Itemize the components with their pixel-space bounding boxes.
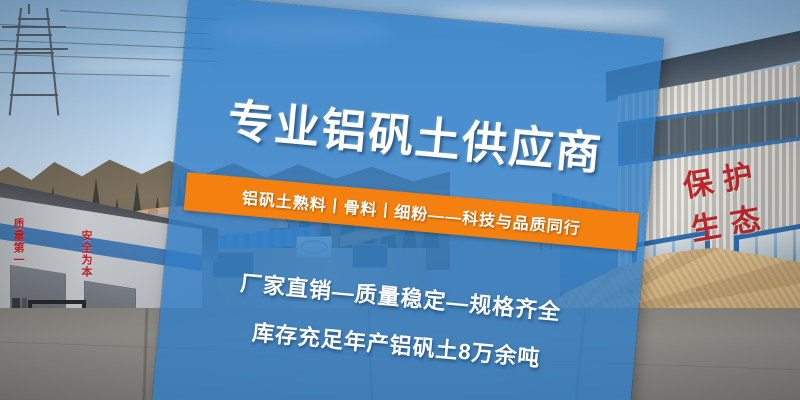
right-building-sign-text: 保护生态 [679,143,800,249]
accent-strip-text: 铝矾土熟料丨骨料丨细粉——科技与品质同行 [241,184,582,239]
transmission-tower-icon [6,8,62,116]
overlay-panel-wrapper: 专业铝矾土供应商 铝矾土熟料丨骨料丨细粉——科技与品质同行 厂家直销—质量稳定—… [152,0,663,400]
promo-banner: 质量第一 安全为本 保护生态 [0,0,800,400]
left-building-sign-text-2: 安全为本 [78,230,94,278]
accent-strip: 铝矾土熟料丨骨料丨细粉——科技与品质同行 [184,172,640,251]
overlay-panel: 专业铝矾土供应商 铝矾土熟料丨骨料丨细粉——科技与品质同行 厂家直销—质量稳定—… [152,0,663,400]
left-building-sign-text: 质量第一 [10,218,26,266]
overlay-panel-content: 专业铝矾土供应商 铝矾土熟料丨骨料丨细粉——科技与品质同行 厂家直销—质量稳定—… [152,0,663,400]
headline: 专业铝矾土供应商 [176,79,656,187]
